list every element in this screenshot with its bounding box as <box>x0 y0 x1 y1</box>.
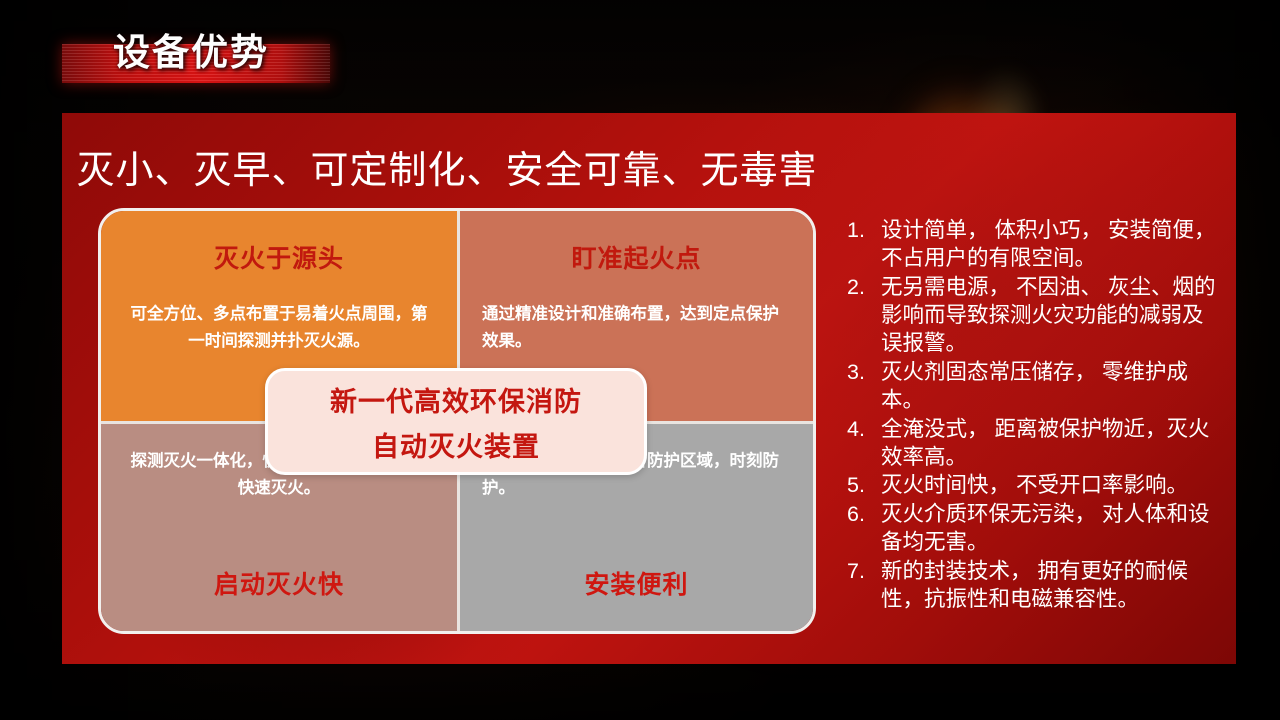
list-item-text: 灭火介质环保无污染， 对人体和设备均无害。 <box>881 501 1219 557</box>
list-item-number: 6. <box>847 501 881 529</box>
badge-line-2: 自动灭火装置 <box>372 425 540 464</box>
list-item-number: 5. <box>847 472 881 500</box>
list-item-text: 设计简单， 体积小巧， 安装简便， 不占用户的有限空间。 <box>881 217 1219 273</box>
list-item: 4. 全淹没式， 距离被保护物近，灭火效率高。 <box>847 416 1219 472</box>
slide-canvas: 设备优势 灭小、灭早、可定制化、安全可靠、无毒害 灭火于源头 可全方位、多点布置… <box>0 0 1280 720</box>
list-item: 1. 设计简单， 体积小巧， 安装简便， 不占用户的有限空间。 <box>847 217 1219 273</box>
list-item-text: 无另需电源， 不因油、 灰尘、烟的影响而导致探测火灾功能的减弱及误报警。 <box>881 274 1219 358</box>
list-item-number: 4. <box>847 416 881 444</box>
list-item: 2. 无另需电源， 不因油、 灰尘、烟的影响而导致探测火灾功能的减弱及误报警。 <box>847 274 1219 358</box>
list-item-number: 2. <box>847 274 881 302</box>
list-item: 6. 灭火介质环保无污染， 对人体和设备均无害。 <box>847 501 1219 557</box>
quadrant-body: 通过精准设计和准确布置，达到定点保护效果。 <box>482 301 791 354</box>
list-item-text: 新的封装技术， 拥有更好的耐候性，抗振性和电磁兼容性。 <box>881 558 1219 614</box>
list-item-text: 灭火时间快， 不受开口率影响。 <box>881 472 1219 500</box>
list-item: 3. 灭火剂固态常压储存， 零维护成本。 <box>847 359 1219 415</box>
quadrant-title: 灭火于源头 <box>214 239 344 275</box>
main-red-panel: 灭小、灭早、可定制化、安全可靠、无毒害 灭火于源头 可全方位、多点布置于易着火点… <box>62 113 1236 664</box>
quadrant-title: 启动灭火快 <box>214 565 344 601</box>
quadrant-body: 可全方位、多点布置于易着火点周围，第一时间探测并扑灭火源。 <box>123 301 435 354</box>
quadrant-title: 安装便利 <box>584 565 688 601</box>
list-item-number: 3. <box>847 359 881 387</box>
list-item: 5. 灭火时间快， 不受开口率影响。 <box>847 472 1219 500</box>
headline-text: 灭小、灭早、可定制化、安全可靠、无毒害 <box>62 139 832 194</box>
list-item-text: 灭火剂固态常压储存， 零维护成本。 <box>881 359 1219 415</box>
list-item-text: 全淹没式， 距离被保护物近，灭火效率高。 <box>881 416 1219 472</box>
page-title: 设备优势 <box>113 22 269 76</box>
list-item-number: 7. <box>847 558 881 586</box>
list-item-number: 1. <box>847 217 881 245</box>
badge-line-1: 新一代高效环保消防 <box>330 380 582 419</box>
quadrant-title: 盯准起火点 <box>571 239 701 275</box>
product-name-badge: 新一代高效环保消防 自动灭火装置 <box>265 368 647 475</box>
list-item: 7. 新的封装技术， 拥有更好的耐候性，抗振性和电磁兼容性。 <box>847 558 1219 614</box>
feature-list: 1. 设计简单， 体积小巧， 安装简便， 不占用户的有限空间。 2. 无另需电源… <box>847 217 1219 615</box>
